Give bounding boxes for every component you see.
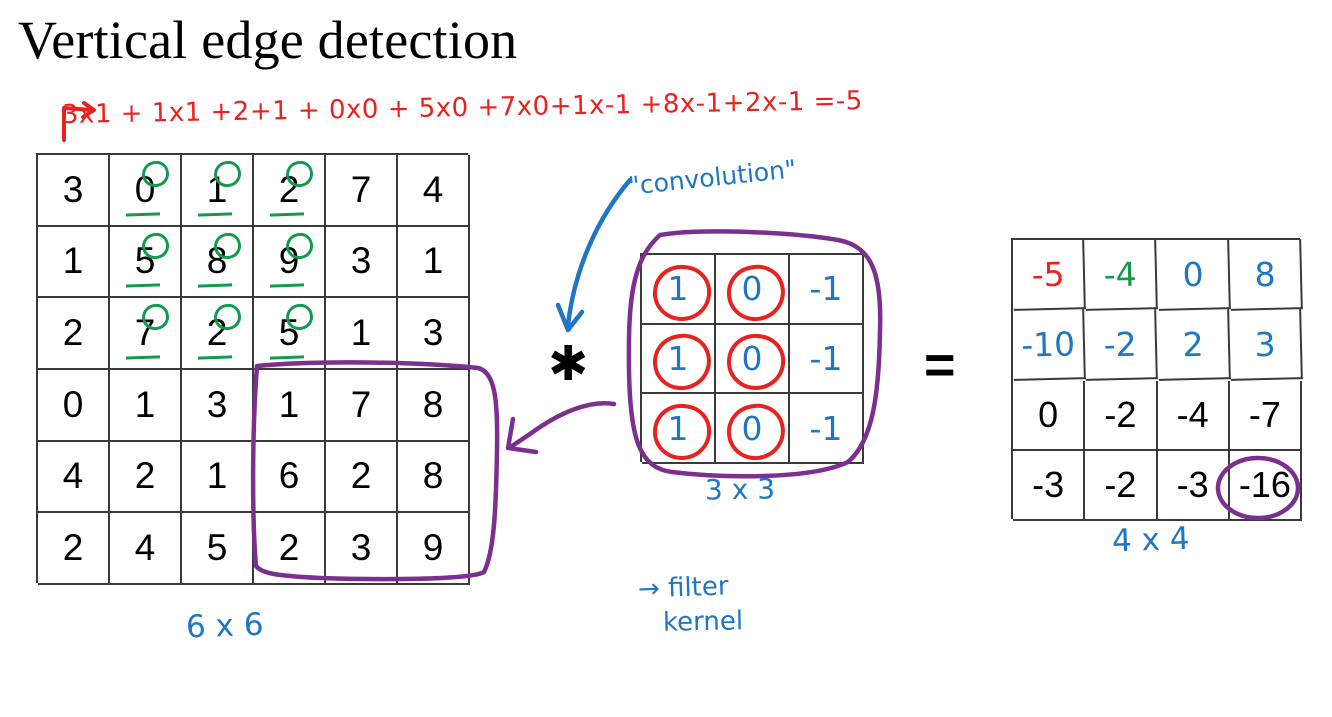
cell-value: 1 bbox=[423, 240, 444, 282]
result-cell-r3-c1: -2 bbox=[1085, 451, 1157, 521]
green-underline-mark-icon bbox=[126, 212, 160, 216]
input-cell-r3-c0: 0 bbox=[38, 370, 110, 442]
cell-value: 0 bbox=[63, 384, 84, 426]
input-cell-r2-c5: 3 bbox=[398, 298, 470, 370]
input-cell-r4-c4: 2 bbox=[326, 442, 398, 514]
input-cell-r4-c5: 8 bbox=[398, 442, 470, 514]
cell-value: 8 bbox=[423, 384, 444, 426]
filter-cell-r2-c1: 0 bbox=[716, 394, 790, 464]
input-cell-r4-c0: 4 bbox=[38, 442, 110, 514]
convolution-arrow bbox=[568, 180, 630, 325]
result-cell-r1-c0: -10 bbox=[1012, 309, 1086, 381]
filter-cell-r1-c1: 0 bbox=[716, 325, 790, 395]
cell-value: 1 bbox=[279, 384, 300, 426]
input-cell-r3-c5: 8 bbox=[398, 370, 470, 442]
input-cell-r0-c3: 2 bbox=[254, 155, 326, 227]
input-cell-r1-c3: 9 bbox=[254, 227, 326, 299]
input-cell-r1-c1: 5 bbox=[110, 227, 182, 299]
filter-matrix: 10-110-110-1 bbox=[640, 253, 862, 462]
filter-cell-r1-c0: 1 bbox=[642, 325, 716, 395]
cell-value: 8 bbox=[1254, 254, 1276, 294]
input-cell-r3-c3: 1 bbox=[254, 370, 326, 442]
cell-value: -16 bbox=[1239, 464, 1291, 506]
result-cell-r3-c0: -3 bbox=[1013, 451, 1085, 521]
input-cell-r5-c5: 9 bbox=[398, 513, 470, 585]
green-underline-mark-icon bbox=[270, 284, 304, 288]
red-circle-mark-icon bbox=[650, 401, 714, 464]
cell-value: 2 bbox=[1182, 325, 1204, 365]
filter-to-input-arrow-head bbox=[508, 419, 536, 452]
result-cell-r3-c2: -3 bbox=[1158, 451, 1230, 521]
cell-value: 0 bbox=[1182, 254, 1204, 294]
result-cell-r0-c1: -4 bbox=[1084, 239, 1158, 311]
input-cell-r5-c0: 2 bbox=[38, 513, 110, 585]
cell-value: 2 bbox=[135, 455, 156, 497]
cell-value: 3 bbox=[63, 169, 84, 211]
asterisk-operator-icon: ✱ bbox=[548, 340, 588, 388]
cell-value: 7 bbox=[351, 169, 372, 211]
cell-value: 9 bbox=[423, 527, 444, 569]
filter-cell-r2-c2: -1 bbox=[790, 394, 864, 464]
green-underline-mark-icon bbox=[270, 212, 304, 216]
red-circle-mark-icon bbox=[649, 331, 714, 395]
cell-value: 1 bbox=[135, 384, 156, 426]
filter-cell-r1-c2: -1 bbox=[790, 325, 864, 395]
input-cell-r5-c3: 2 bbox=[254, 513, 326, 585]
cell-value: 3 bbox=[1254, 325, 1276, 365]
input-cell-r3-c1: 1 bbox=[110, 370, 182, 442]
result-cell-r2-c1: -2 bbox=[1085, 381, 1157, 451]
input-cell-r3-c2: 3 bbox=[182, 370, 254, 442]
input-cell-r0-c2: 1 bbox=[182, 155, 254, 227]
cell-value: 2 bbox=[63, 527, 84, 569]
input-cell-r2-c1: 7 bbox=[110, 298, 182, 370]
cell-value: -4 bbox=[1103, 254, 1137, 294]
cell-value: 7 bbox=[351, 384, 372, 426]
cell-value: 2 bbox=[279, 527, 300, 569]
filter-cell-r2-c0: 1 bbox=[642, 394, 716, 464]
cell-value: -1 bbox=[810, 269, 843, 308]
cell-value: 0 bbox=[1038, 394, 1058, 436]
input-cell-r3-c4: 7 bbox=[326, 370, 398, 442]
cell-value: 2 bbox=[63, 312, 84, 354]
top-equation-annotation: 3x1 + 1x1 +2+1 + 0x0 + 5x0 +7x0+1x-1 +8x… bbox=[62, 86, 863, 130]
input-cell-r0-c1: 0 bbox=[110, 155, 182, 227]
filter-label: → filter bbox=[638, 571, 730, 604]
convolution-arrow-head bbox=[558, 305, 582, 330]
green-underline-mark-icon bbox=[126, 284, 160, 288]
input-cell-r0-c5: 4 bbox=[398, 155, 470, 227]
input-cell-r4-c3: 6 bbox=[254, 442, 326, 514]
cell-value: 1 bbox=[207, 455, 228, 497]
cell-value: 4 bbox=[135, 527, 156, 569]
equals-operator-icon: = bbox=[924, 338, 956, 392]
convolution-label: "convolution" bbox=[627, 154, 798, 200]
filter-cell-r0-c0: 1 bbox=[642, 255, 716, 325]
result-cell-r1-c3: 3 bbox=[1229, 309, 1303, 381]
cell-value: 3 bbox=[207, 384, 228, 426]
input-cell-r2-c3: 5 bbox=[254, 298, 326, 370]
cell-value: 3 bbox=[423, 312, 444, 354]
cell-value: -7 bbox=[1249, 394, 1281, 436]
cell-value: -1 bbox=[810, 409, 843, 448]
input-cell-r5-c1: 4 bbox=[110, 513, 182, 585]
input-cell-r2-c2: 2 bbox=[182, 298, 254, 370]
filter-to-input-arrow bbox=[512, 403, 614, 446]
result-cell-r1-c1: -2 bbox=[1084, 309, 1158, 381]
input-cell-r1-c2: 8 bbox=[182, 227, 254, 299]
input-matrix: 301274158931272513013178421628245239 bbox=[36, 153, 468, 583]
red-circle-mark-icon bbox=[723, 261, 788, 325]
input-cell-r1-c5: 1 bbox=[398, 227, 470, 299]
cell-value: 3 bbox=[351, 240, 372, 282]
green-underline-mark-icon bbox=[198, 212, 232, 216]
red-circle-mark-icon bbox=[723, 400, 788, 464]
result-cell-r0-c2: 0 bbox=[1157, 239, 1231, 311]
result-cell-r0-c0: -5 bbox=[1012, 239, 1086, 311]
result-cell-r3-c3: -16 bbox=[1230, 451, 1302, 521]
cell-value: 4 bbox=[63, 455, 84, 497]
cell-value: -5 bbox=[1031, 254, 1065, 294]
input-size-label: 6 x 6 bbox=[185, 607, 264, 646]
result-size-label: 4 x 4 bbox=[1111, 521, 1190, 560]
cell-value: -2 bbox=[1104, 394, 1136, 436]
result-cell-r2-c0: 0 bbox=[1013, 381, 1085, 451]
cell-value: 2 bbox=[351, 455, 372, 497]
result-cell-r2-c2: -4 bbox=[1158, 381, 1230, 451]
cell-value: 1 bbox=[63, 240, 84, 282]
input-cell-r0-c4: 7 bbox=[326, 155, 398, 227]
cell-value: -10 bbox=[1021, 324, 1076, 364]
input-cell-r4-c2: 1 bbox=[182, 442, 254, 514]
green-underline-mark-icon bbox=[198, 355, 232, 359]
cell-value: 3 bbox=[351, 527, 372, 569]
cell-value: 1 bbox=[351, 312, 372, 354]
green-underline-mark-icon bbox=[126, 355, 160, 359]
input-cell-r2-c0: 2 bbox=[38, 298, 110, 370]
cell-value: 4 bbox=[423, 169, 444, 211]
result-cell-r2-c3: -7 bbox=[1230, 381, 1302, 451]
green-underline-mark-icon bbox=[270, 355, 304, 359]
red-circle-mark-icon bbox=[724, 331, 788, 394]
kernel-label: kernel bbox=[663, 606, 744, 637]
page-title: Vertical edge detection bbox=[18, 12, 517, 69]
cell-value: -2 bbox=[1104, 464, 1136, 506]
red-circle-mark-icon bbox=[650, 262, 714, 325]
cell-value: 6 bbox=[279, 455, 300, 497]
cell-value: -2 bbox=[1103, 325, 1137, 365]
filter-cell-r0-c1: 0 bbox=[716, 255, 790, 325]
slide-canvas: Vertical edge detection 3x1 + 1x1 +2+1 +… bbox=[0, 0, 1332, 717]
result-cell-r1-c2: 2 bbox=[1157, 309, 1231, 381]
input-cell-r1-c4: 3 bbox=[326, 227, 398, 299]
cell-value: -4 bbox=[1177, 394, 1209, 436]
input-cell-r0-c0: 3 bbox=[38, 155, 110, 227]
result-cell-r0-c3: 8 bbox=[1229, 239, 1303, 311]
cell-value: 8 bbox=[423, 455, 444, 497]
cell-value: 5 bbox=[207, 527, 228, 569]
input-cell-r5-c2: 5 bbox=[182, 513, 254, 585]
cell-value: -3 bbox=[1032, 464, 1064, 506]
input-cell-r4-c1: 2 bbox=[110, 442, 182, 514]
input-cell-r2-c4: 1 bbox=[326, 298, 398, 370]
filter-size-label: 3 x 3 bbox=[705, 472, 776, 506]
result-matrix: -5-408-10-2230-2-4-7-3-2-3-16 bbox=[1011, 238, 1300, 519]
cell-value: -1 bbox=[810, 339, 843, 378]
input-cell-r1-c0: 1 bbox=[38, 227, 110, 299]
cell-value: -3 bbox=[1177, 464, 1209, 506]
green-underline-mark-icon bbox=[198, 284, 232, 288]
input-cell-r5-c4: 3 bbox=[326, 513, 398, 585]
filter-cell-r0-c2: -1 bbox=[790, 255, 864, 325]
